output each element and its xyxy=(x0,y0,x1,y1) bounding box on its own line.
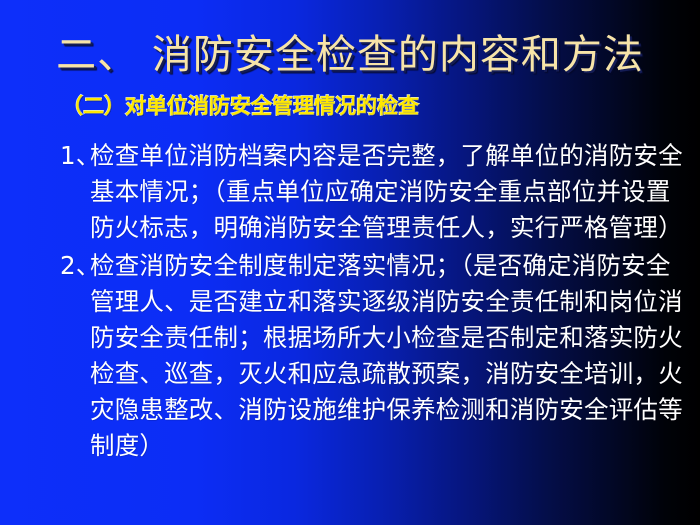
presentation-slide: 二、 消防安全检查的内容和方法 （二）对单位消防安全管理情况的检查 1、 检查单… xyxy=(0,0,700,525)
slide-body: 1、 检查单位消防档案内容是否完整，了解单位的消防安全基本情况；（重点单位应确定… xyxy=(60,138,685,466)
body-item-1: 1、 检查单位消防档案内容是否完整，了解单位的消防安全基本情况；（重点单位应确定… xyxy=(60,138,685,246)
list-marker-1: 1、 xyxy=(60,138,101,174)
body-item-1-text: 检查单位消防档案内容是否完整，了解单位的消防安全基本情况；（重点单位应确定消防安… xyxy=(90,138,685,246)
body-item-2: 2、 检查消防安全制度制定落实情况；（是否确定消防安全管理人、是否建立和落实逐级… xyxy=(60,248,685,464)
list-marker-2: 2、 xyxy=(60,248,101,284)
slide-subtitle: （二）对单位消防安全管理情况的检查 xyxy=(62,92,419,120)
slide-title: 二、 消防安全检查的内容和方法 xyxy=(0,31,700,79)
body-item-2-text: 检查消防安全制度制定落实情况；（是否确定消防安全管理人、是否建立和落实逐级消防安… xyxy=(90,248,685,464)
